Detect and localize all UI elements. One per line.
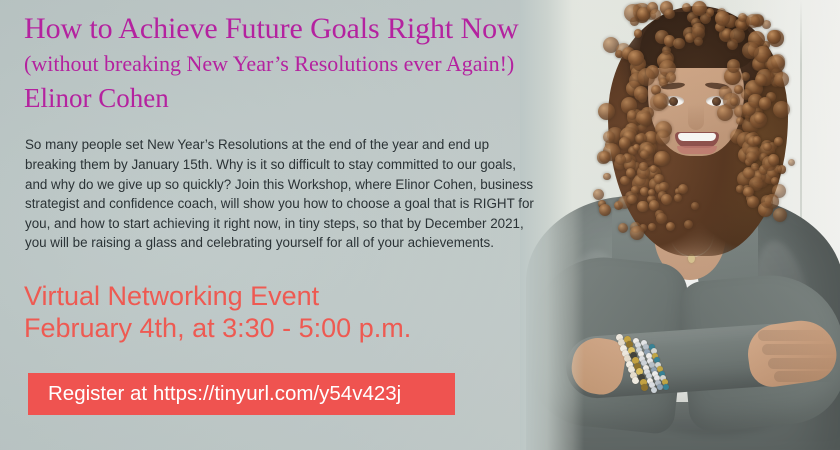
event-type: Virtual Networking Event — [24, 280, 319, 312]
flyer-title: How to Achieve Future Goals Right Now — [24, 12, 544, 46]
event-flyer: How to Achieve Future Goals Right Now (w… — [0, 0, 840, 450]
event-datetime: February 4th, at 3:30 - 5:00 p.m. — [24, 312, 411, 344]
iris-left — [669, 97, 678, 106]
flyer-subtitle: (without breaking New Year’s Resolutions… — [24, 51, 554, 77]
flyer-description: So many people set New Year’s Resolution… — [25, 135, 537, 253]
iris-right — [712, 97, 721, 106]
content-column: How to Achieve Future Goals Right Now (w… — [0, 0, 560, 450]
teeth — [678, 133, 716, 141]
register-button-label: Register at https://tinyurl.com/y54v423j — [28, 382, 401, 406]
lower-lip — [677, 146, 717, 154]
presenter-photo — [520, 0, 840, 450]
nose — [688, 104, 704, 130]
presenter-name: Elinor Cohen — [24, 83, 169, 114]
register-button[interactable]: Register at https://tinyurl.com/y54v423j — [28, 373, 455, 415]
